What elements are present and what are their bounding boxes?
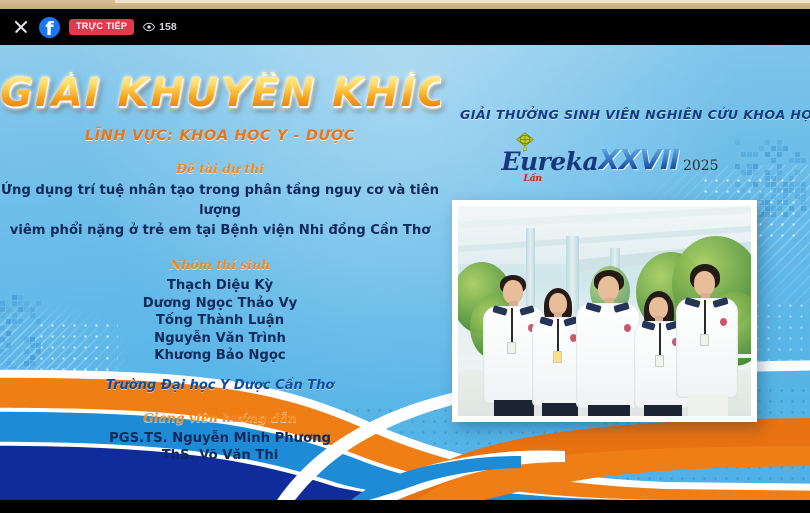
team-member: Dương Ngọc Thảo Vy (0, 295, 440, 312)
eureka-year: 2025 (683, 159, 719, 173)
award-field-line: LĨNH VỰC: KHOA HỌC Y - DƯỢC (0, 128, 440, 144)
event-header: GIẢI THƯỞNG SINH VIÊN NGHIÊN CỨU KHOA HỌ… (460, 107, 760, 174)
advisor-name: ThS. Võ Văn Thi (0, 447, 440, 464)
eureka-diamond-icon (515, 132, 535, 152)
team-photo (458, 206, 751, 416)
facebook-logo-glyph: f (45, 20, 53, 38)
team-label: Nhóm thí sinh (0, 257, 440, 272)
school-name: Trường Đại học Y Dược Cần Thơ (0, 378, 440, 393)
eye-icon (143, 21, 155, 33)
facebook-logo-icon: f (39, 17, 60, 38)
team-member: Khương Bảo Ngọc (0, 347, 440, 364)
viewer-count-group: 158 (143, 21, 177, 33)
player-bottom-bar (0, 500, 810, 513)
broadcast-slide: GIẢI KHUYẾN KHÍCH LĨNH VỰC: KHOA HỌC Y -… (0, 45, 810, 500)
video-player: f TRỰC TIẾP 158 (0, 0, 810, 513)
eureka-wordmark: Eureka Lần (501, 149, 598, 174)
team-member: Nguyễn Văn Trình (0, 330, 440, 347)
page-edge-strip (0, 0, 810, 9)
player-top-bar: f TRỰC TIẾP 158 (0, 9, 810, 45)
team-member: Tống Thành Luận (0, 312, 440, 329)
live-badge: TRỰC TIẾP (69, 19, 134, 35)
advisor-label: Giảng viên hướng dẫn (0, 410, 440, 425)
topic-label: Đề tài dự thi (0, 161, 440, 176)
advisor-name: PGS.TS. Nguyễn Minh Phương (0, 430, 440, 447)
viewer-count-value: 158 (159, 21, 177, 33)
eureka-edition-roman: XXVII (598, 146, 679, 174)
topic-line-1: Ứng dụng trí tuệ nhân tạo trong phân tần… (0, 181, 440, 221)
close-icon[interactable] (12, 18, 30, 36)
team-photo-frame (452, 200, 757, 422)
eureka-logo: Eureka Lần XXVII 2025 (460, 128, 760, 174)
award-title: GIẢI KHUYẾN KHÍCH (0, 72, 440, 114)
eureka-edition-label: Lần (523, 174, 541, 184)
topic-line-2: viêm phổi nặng ở trẻ em tại Bệnh viện Nh… (0, 221, 440, 241)
award-info-panel: GIẢI KHUYẾN KHÍCH LĨNH VỰC: KHOA HỌC Y -… (0, 45, 440, 500)
event-title: GIẢI THƯỞNG SINH VIÊN NGHIÊN CỨU KHOA HỌ… (460, 107, 760, 122)
team-member: Thạch Diệu Kỳ (0, 277, 440, 294)
